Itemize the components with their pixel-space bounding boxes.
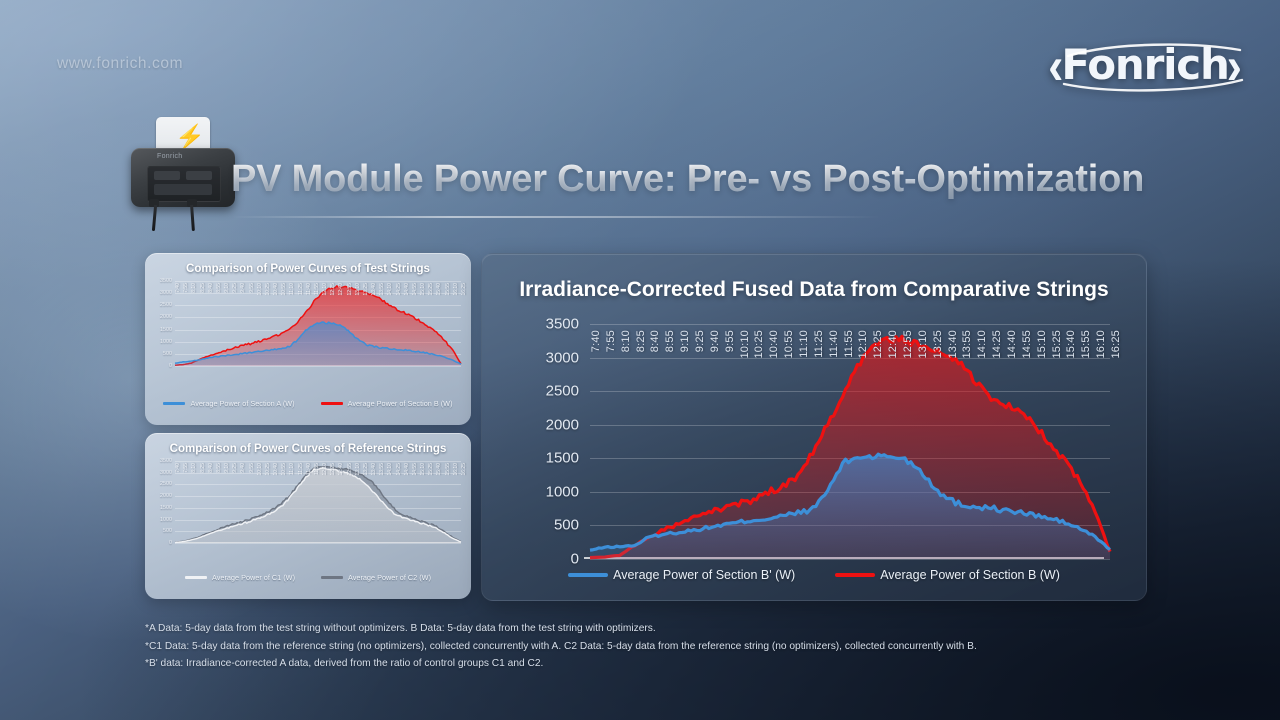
y-axis-tick-label: 3000	[546, 349, 590, 366]
x-axis-tick-label: 15:40	[1065, 330, 1077, 359]
x-axis-tick-label: 14:55	[412, 463, 418, 476]
x-axis-tick-label: 8:55	[216, 283, 222, 293]
plot-area-test-strings: 05001000150020002500300035007:407:558:10…	[175, 281, 461, 366]
x-axis-tick-label: 9:10	[224, 463, 230, 473]
x-axis-tick-label: 13:55	[379, 283, 385, 296]
x-axis-tick-label: 12:25	[330, 463, 336, 476]
chart-panel-test-strings: Comparison of Power Curves of Test Strin…	[145, 253, 471, 425]
x-axis-tick-label: 9:55	[249, 463, 255, 473]
x-axis-tick-label: 9:40	[709, 330, 721, 352]
series-area	[175, 468, 461, 543]
x-axis-tick-label: 9:55	[724, 330, 736, 352]
footnote-line: *A Data: 5-day data from the test string…	[145, 620, 1145, 638]
x-axis-tick-label: 8:10	[191, 463, 197, 473]
x-axis-tick-label: 15:55	[445, 283, 451, 296]
x-axis-tick-label: 9:40	[240, 283, 246, 293]
x-axis-tick-label: 15:25	[1051, 330, 1063, 359]
chart-legend-main: Average Power of Section B' (W)Average P…	[482, 568, 1146, 582]
x-axis-tick-label: 11:55	[314, 283, 320, 295]
legend-label: Average Power of C2 (W)	[348, 573, 431, 582]
x-axis-tick-label: 10:25	[265, 463, 271, 476]
x-axis-tick-label: 11:10	[289, 283, 295, 295]
x-axis-tick-label: 8:40	[649, 330, 661, 352]
y-axis-tick-label: 2500	[546, 383, 590, 400]
x-axis-tick-label: 15:25	[428, 283, 434, 296]
chart-legend-reference-strings: Average Power of C1 (W)Average Power of …	[145, 573, 471, 582]
x-axis-tick-label: 11:55	[314, 463, 320, 475]
x-axis-tick-label: 10:40	[768, 330, 780, 359]
x-axis-tick-label: 10:10	[257, 283, 263, 296]
y-axis-tick-label: 1500	[160, 505, 175, 511]
x-axis-tick-label: 10:10	[257, 463, 263, 476]
x-axis-tick-label: 11:40	[306, 283, 312, 295]
x-axis-tick-label: 12:10	[322, 463, 328, 476]
legend-swatch-icon	[835, 573, 875, 577]
y-axis-tick-label: 1500	[546, 450, 590, 467]
legend-label: Average Power of Section B' (W)	[613, 568, 795, 582]
x-axis-tick-label: 14:25	[991, 330, 1003, 359]
x-axis-tick-label: 10:55	[281, 283, 287, 296]
y-axis-tick-label: 2000	[160, 493, 175, 499]
x-axis-tick-label: 8:10	[191, 283, 197, 293]
site-url: www.fonrich.com	[57, 55, 183, 73]
x-axis-tick-label: 16:25	[1110, 330, 1122, 359]
x-axis-tick-label: 7:55	[183, 283, 189, 293]
x-axis-tick-label: 11:55	[843, 330, 855, 358]
y-axis-tick-label: 1000	[160, 517, 175, 523]
x-axis-tick-label: 15:10	[1036, 330, 1048, 359]
x-axis-tick-label: 8:25	[635, 330, 647, 352]
x-axis-tick-label: 10:55	[783, 330, 795, 359]
slide-canvas: www.fonrich.com ‹ Fonrich › ⚡ Fonrich PV…	[0, 0, 1280, 720]
x-axis-tick-label: 11:25	[298, 463, 304, 475]
x-axis-tick-label: 15:40	[436, 463, 442, 476]
device-front-panel	[147, 166, 221, 202]
power-optimizer-device-image: ⚡ Fonrich	[131, 117, 239, 225]
x-axis-tick-label: 16:25	[461, 283, 467, 296]
chart-title-main: Irradiance-Corrected Fused Data from Com…	[482, 278, 1146, 302]
y-axis-tick-label: 2500	[160, 481, 175, 487]
x-axis-tick-label: 9:25	[232, 463, 238, 473]
x-axis-tick-label: 14:40	[1006, 330, 1018, 359]
x-axis-tick-label: 13:40	[947, 330, 959, 359]
y-axis-tick-label: 2500	[160, 302, 175, 308]
y-axis-tick-label: 500	[163, 528, 175, 534]
gridline	[590, 559, 1110, 560]
chart-legend-test-strings: Average Power of Section A (W)Average Po…	[145, 399, 471, 408]
x-axis-tick-label: 10:55	[281, 463, 287, 476]
legend-label: Average Power of C1 (W)	[212, 573, 295, 582]
legend-item[interactable]: Average Power of C1 (W)	[185, 573, 295, 582]
x-axis-tick-label: 9:25	[232, 283, 238, 293]
x-axis-tick-label: 10:25	[753, 330, 765, 359]
logo-wordmark: Fonrich	[1061, 44, 1228, 86]
x-axis-tick-label: 16:10	[453, 283, 459, 296]
x-axis-tick-label: 15:10	[420, 283, 426, 296]
footnote-line: *C1 Data: 5-day data from the reference …	[145, 638, 1145, 656]
x-axis-tick-label: 15:55	[445, 463, 451, 476]
x-axis-tick-label: 10:40	[273, 463, 279, 476]
x-axis-tick-label: 9:10	[679, 330, 691, 352]
x-axis-tick-label: 13:10	[917, 330, 929, 359]
x-axis-tick-label: 10:25	[265, 283, 271, 296]
x-axis-tick-label: 14:40	[404, 463, 410, 476]
chart-title-test-strings: Comparison of Power Curves of Test Strin…	[145, 263, 471, 275]
x-axis-tick-label: 9:55	[249, 283, 255, 293]
x-axis-tick-label: 15:40	[436, 283, 442, 296]
y-axis-tick-label: 1000	[546, 483, 590, 500]
x-axis-tick-label: 13:25	[363, 283, 369, 296]
legend-item[interactable]: Average Power of Section B (W)	[835, 568, 1060, 582]
y-axis-tick-label: 2000	[160, 314, 175, 320]
legend-swatch-icon	[568, 573, 608, 577]
x-axis-tick-label: 13:25	[932, 330, 944, 359]
device-slot	[186, 171, 212, 180]
x-axis-tick-label: 12:10	[857, 330, 869, 359]
x-axis-tick-label: 9:25	[694, 330, 706, 352]
x-axis-tick-label: 8:10	[620, 330, 632, 352]
x-axis-tick-label: 16:10	[1095, 330, 1107, 359]
title-divider	[231, 216, 881, 218]
y-axis-tick-label: 1000	[160, 339, 175, 345]
legend-swatch-icon	[321, 402, 343, 405]
x-axis-tick-label: 7:40	[175, 463, 181, 473]
legend-swatch-icon	[321, 576, 343, 579]
device-brand-mark: Fonrich	[157, 153, 182, 160]
device-slot	[154, 171, 180, 180]
x-axis-tick-label: 14:55	[412, 283, 418, 296]
gridline	[175, 543, 461, 544]
chart-title-reference-strings: Comparison of Power Curves of Reference …	[145, 443, 471, 455]
x-axis-tick-label: 9:40	[240, 463, 246, 473]
x-axis-tick-label: 14:10	[387, 283, 393, 296]
y-axis-tick-label: 3000	[160, 470, 175, 476]
logo-bracket-right-icon: ›	[1227, 39, 1242, 92]
x-axis-tick-label: 7:55	[605, 330, 617, 352]
x-axis-tick-label: 8:40	[208, 463, 214, 473]
x-axis-tick-label: 13:55	[961, 330, 973, 359]
x-axis-tick-label: 12:55	[347, 463, 353, 476]
y-axis-tick-label: 1500	[160, 327, 175, 333]
x-axis-tick-label: 11:40	[828, 330, 840, 358]
x-axis-tick-label: 14:10	[976, 330, 988, 359]
chart-panel-main: Irradiance-Corrected Fused Data from Com…	[481, 253, 1147, 601]
x-axis-tick-label: 16:25	[461, 463, 467, 476]
x-axis-tick-label: 11:25	[298, 283, 304, 295]
x-axis-tick-label: 12:25	[872, 330, 884, 359]
x-axis-tick-label: 10:40	[273, 283, 279, 296]
x-axis-tick-label: 14:25	[396, 283, 402, 296]
x-axis-tick-label: 12:55	[902, 330, 914, 359]
gridline	[175, 366, 461, 367]
legend-label: Average Power of Section B (W)	[880, 568, 1060, 582]
x-axis-tick-label: 15:55	[1080, 330, 1092, 359]
y-axis-tick-label: 0	[571, 551, 590, 568]
x-axis-tick-label: 13:40	[371, 463, 377, 476]
device-slot	[154, 184, 212, 195]
device-body: Fonrich	[131, 148, 235, 207]
x-axis-tick-label: 15:25	[428, 463, 434, 476]
device-cable	[190, 205, 195, 231]
x-axis-tick-label: 7:55	[183, 463, 189, 473]
y-axis-tick-label: 500	[163, 351, 175, 357]
x-axis-tick-label: 15:10	[420, 463, 426, 476]
x-axis-tick-label: 11:25	[813, 330, 825, 358]
legend-item[interactable]: Average Power of Section B' (W)	[568, 568, 795, 582]
y-axis-tick-label: 3500	[160, 278, 175, 284]
x-axis-tick-label: 7:40	[175, 283, 181, 293]
x-axis-tick-label: 12:55	[347, 283, 353, 296]
x-axis-tick-label: 12:40	[338, 283, 344, 296]
x-axis-tick-label: 14:10	[387, 463, 393, 476]
footnote-line: *B' data: Irradiance-corrected A data, d…	[145, 655, 1145, 673]
legend-swatch-icon	[185, 576, 207, 579]
x-axis-tick-label: 13:55	[379, 463, 385, 476]
x-axis-tick-label: 13:10	[355, 463, 361, 476]
x-axis-tick-label: 7:40	[590, 330, 602, 352]
x-axis-tick-label: 14:40	[404, 283, 410, 296]
legend-item[interactable]: Average Power of Section A (W)	[163, 399, 294, 408]
page-title: PV Module Power Curve: Pre- vs Post-Opti…	[231, 158, 1144, 201]
series-canvas	[590, 324, 1110, 559]
device-cable	[152, 205, 157, 231]
legend-item[interactable]: Average Power of Section B (W)	[321, 399, 453, 408]
x-axis-tick-label: 11:10	[289, 463, 295, 475]
legend-label: Average Power of Section A (W)	[190, 399, 294, 408]
fonrich-logo: ‹ Fonrich ›	[1048, 42, 1242, 88]
chart-panel-reference-strings: Comparison of Power Curves of Reference …	[145, 433, 471, 599]
x-axis-tick-label: 16:10	[453, 463, 459, 476]
legend-item[interactable]: Average Power of C2 (W)	[321, 573, 431, 582]
x-axis-tick-label: 11:10	[798, 330, 810, 358]
plot-area-main: 05001000150020002500300035007:407:558:10…	[590, 324, 1110, 559]
x-axis-tick-label: 13:10	[355, 283, 361, 296]
y-axis-tick-label: 3500	[160, 458, 175, 464]
footnotes: *A Data: 5-day data from the test string…	[145, 620, 1145, 673]
x-axis-tick-label: 12:40	[338, 463, 344, 476]
x-axis-tick-label: 8:40	[208, 283, 214, 293]
y-axis-tick-label: 3500	[546, 316, 590, 333]
x-axis-tick-label: 12:10	[322, 283, 328, 296]
x-axis-tick-label: 13:25	[363, 463, 369, 476]
x-axis-tick-label: 14:55	[1021, 330, 1033, 359]
plot-area-reference-strings: 05001000150020002500300035007:407:558:10…	[175, 461, 461, 543]
legend-swatch-icon	[163, 402, 185, 405]
x-axis-tick-label: 9:10	[224, 283, 230, 293]
x-axis-tick-label: 12:25	[330, 283, 336, 296]
legend-label: Average Power of Section B (W)	[348, 399, 453, 408]
x-axis-tick-label: 8:55	[216, 463, 222, 473]
logo-bracket-left-icon: ‹	[1048, 39, 1063, 92]
y-axis-tick-label: 500	[554, 517, 590, 534]
x-axis-tick-label: 8:55	[664, 330, 676, 352]
x-axis-tick-label: 12:40	[887, 330, 899, 359]
x-axis-tick-label: 10:10	[739, 330, 751, 359]
x-axis-tick-label: 8:25	[200, 463, 206, 473]
x-axis-tick-label: 14:25	[396, 463, 402, 476]
y-axis-tick-label: 3000	[160, 290, 175, 296]
y-axis-tick-label: 2000	[546, 416, 590, 433]
x-axis-tick-label: 8:25	[200, 283, 206, 293]
x-axis-tick-label: 11:40	[306, 463, 312, 475]
x-axis-tick-label: 13:40	[371, 283, 377, 296]
